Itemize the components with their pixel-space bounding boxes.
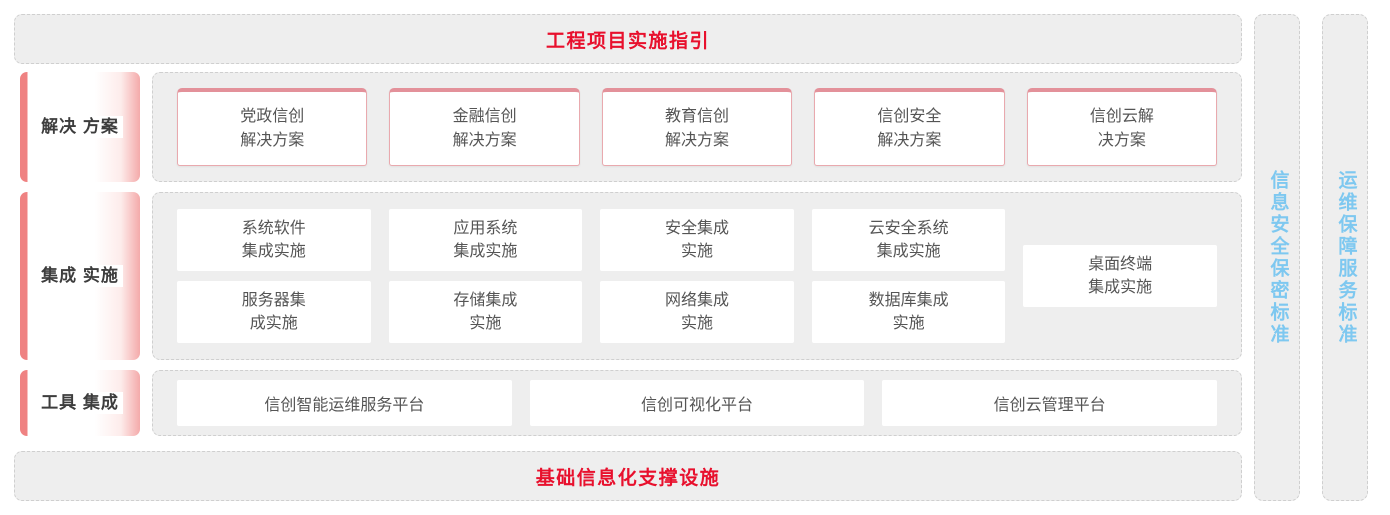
row-tab-solution[interactable]: 解决 方案 (20, 72, 140, 182)
integration-card-label: 存储集成 实施 (453, 289, 517, 335)
top-banner: 工程项目实施指引 (14, 14, 1242, 64)
solution-card-grid: 党政信创 解决方案 金融信创 解决方案 教育信创 解决方案 信创安全 解决方案 … (153, 73, 1241, 181)
solution-card-label: 信创安全 解决方案 (877, 105, 941, 151)
integration-card[interactable]: 云安全系统 集成实施 (812, 209, 1006, 271)
integration-card-label: 安全集成 实施 (665, 217, 729, 263)
bottom-banner-label: 基础信息化支撑设施 (536, 463, 721, 490)
row-tab-integration[interactable]: 集成 实施 (20, 192, 140, 360)
solution-card[interactable]: 金融信创 解决方案 (389, 88, 579, 166)
solution-card[interactable]: 党政信创 解决方案 (177, 88, 367, 166)
solution-card-label: 信创云解 决方案 (1090, 105, 1154, 151)
tool-card-label: 信创智能运维服务平台 (264, 391, 424, 415)
solution-card-label: 金融信创 解决方案 (453, 105, 517, 151)
integration-card[interactable]: 网络集成 实施 (600, 281, 794, 343)
integration-card[interactable]: 服务器集 成实施 (177, 281, 371, 343)
tools-card-grid: 信创智能运维服务平台 信创可视化平台 信创云管理平台 (153, 371, 1241, 435)
integration-card-label: 云安全系统 集成实施 (869, 217, 949, 263)
solution-card[interactable]: 教育信创 解决方案 (602, 88, 792, 166)
tool-card-label: 信创可视化平台 (641, 391, 753, 415)
row-tab-solution-label: 解决 方案 (37, 116, 123, 138)
pillar-information-security-label: 信息安全保密标准 (1264, 170, 1291, 346)
integration-column: 应用系统 集成实施 存储集成 实施 (389, 209, 583, 343)
row-tab-tools[interactable]: 工具 集成 (20, 370, 140, 436)
tool-card-label: 信创云管理平台 (994, 391, 1106, 415)
integration-card-label: 网络集成 实施 (665, 289, 729, 335)
solution-panel: 党政信创 解决方案 金融信创 解决方案 教育信创 解决方案 信创安全 解决方案 … (152, 72, 1242, 182)
pillar-ops-service: 运维保障服务标准 (1322, 14, 1368, 501)
integration-card-label: 服务器集 成实施 (242, 289, 306, 335)
row-tab-tools-label: 工具 集成 (37, 392, 123, 414)
pillar-ops-service-label: 运维保障服务标准 (1332, 170, 1359, 346)
integration-card[interactable]: 存储集成 实施 (389, 281, 583, 343)
integration-column: 云安全系统 集成实施 数据库集成 实施 (812, 209, 1006, 343)
row-tab-integration-label: 集成 实施 (37, 265, 123, 287)
pillar-information-security: 信息安全保密标准 (1254, 14, 1300, 501)
integration-column: 桌面终端 集成实施 (1023, 209, 1217, 343)
integration-card-label: 桌面终端 集成实施 (1088, 253, 1152, 299)
solution-card[interactable]: 信创安全 解决方案 (814, 88, 1004, 166)
integration-card-label: 应用系统 集成实施 (453, 217, 517, 263)
top-banner-label: 工程项目实施指引 (546, 26, 710, 53)
integration-card[interactable]: 系统软件 集成实施 (177, 209, 371, 271)
bottom-banner: 基础信息化支撑设施 (14, 451, 1242, 501)
solution-card-label: 党政信创 解决方案 (240, 105, 304, 151)
tool-card[interactable]: 信创云管理平台 (882, 380, 1217, 426)
tools-panel: 信创智能运维服务平台 信创可视化平台 信创云管理平台 (152, 370, 1242, 436)
integration-card[interactable]: 应用系统 集成实施 (389, 209, 583, 271)
diagram-canvas: 工程项目实施指引 解决 方案 党政信创 解决方案 金融信创 解决方案 教育信创 … (0, 0, 1390, 515)
tool-card[interactable]: 信创智能运维服务平台 (177, 380, 512, 426)
integration-panel: 系统软件 集成实施 服务器集 成实施 应用系统 集成实施 存储集成 实施 安全集… (152, 192, 1242, 360)
integration-card[interactable]: 桌面终端 集成实施 (1023, 245, 1217, 307)
tool-card[interactable]: 信创可视化平台 (530, 380, 865, 426)
integration-column: 安全集成 实施 网络集成 实施 (600, 209, 794, 343)
solution-card[interactable]: 信创云解 决方案 (1027, 88, 1217, 166)
integration-card[interactable]: 数据库集成 实施 (812, 281, 1006, 343)
solution-card-label: 教育信创 解决方案 (665, 105, 729, 151)
integration-card-label: 数据库集成 实施 (869, 289, 949, 335)
integration-column: 系统软件 集成实施 服务器集 成实施 (177, 209, 371, 343)
integration-card[interactable]: 安全集成 实施 (600, 209, 794, 271)
integration-card-label: 系统软件 集成实施 (242, 217, 306, 263)
integration-card-grid: 系统软件 集成实施 服务器集 成实施 应用系统 集成实施 存储集成 实施 安全集… (153, 193, 1241, 359)
